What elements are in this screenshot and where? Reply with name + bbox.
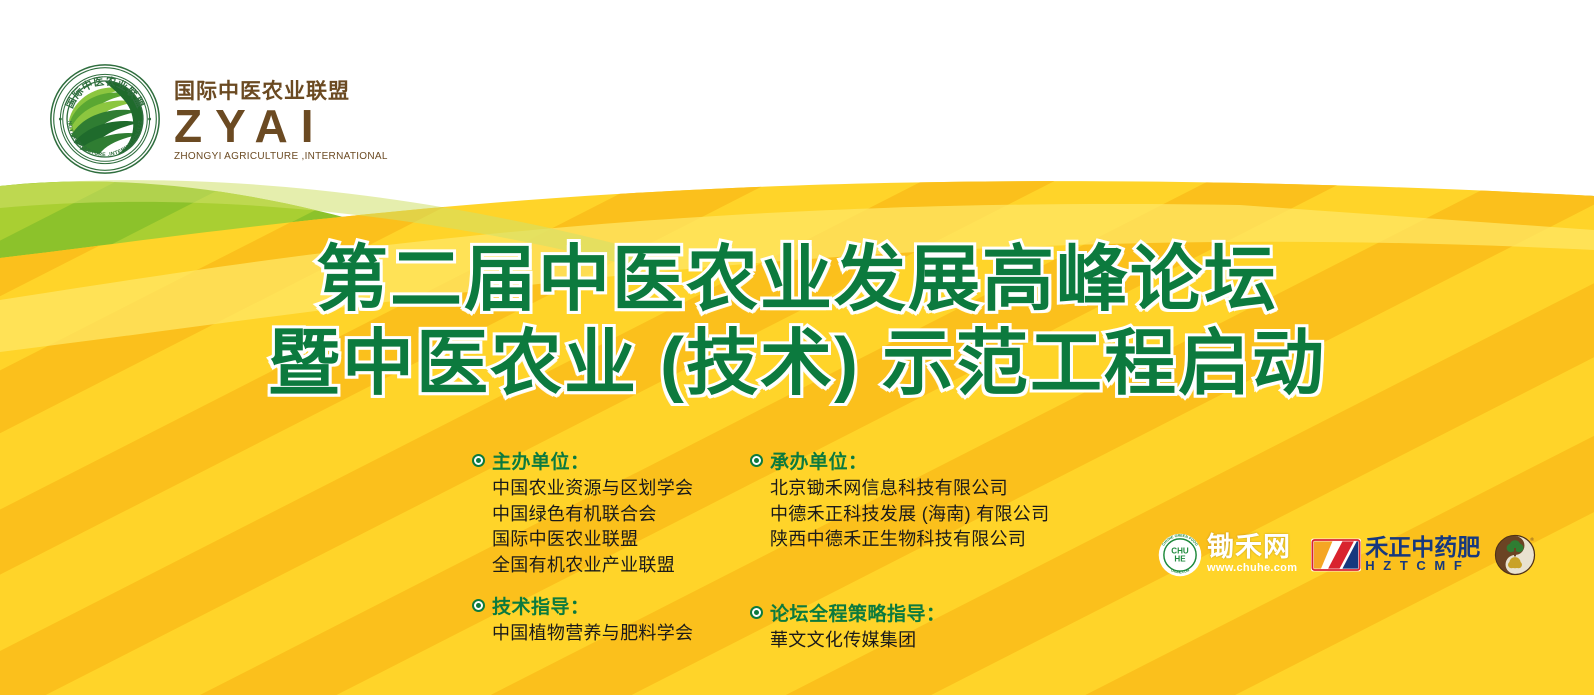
credit-heading: 主办单位： xyxy=(492,447,590,474)
credits-column-left: 主办单位： 中国农业资源与区划学会 中国绿色有机联合会 国际中医农业联盟 全国有… xyxy=(472,447,702,657)
chuhe-name: 锄禾网 xyxy=(1207,534,1291,561)
credit-item: 中国植物营养与肥料学会 xyxy=(472,621,702,647)
chuhe-wordmark: 锄禾网 www.chuhe.com xyxy=(1207,534,1297,575)
logo-acronym: ZYAI xyxy=(174,103,327,150)
credit-group-hosts: 承办单位： 北京锄禾网信息科技有限公司 中德禾正科技发展 (海南) 有限公司 陕… xyxy=(750,447,1050,553)
chuhe-seal-icon: CHUHE GREEN FOOD CHUHE.COM CHU HE xyxy=(1158,533,1202,577)
credit-heading: 承办单位： xyxy=(770,447,868,474)
credit-group-organizers: 主办单位： 中国农业资源与区划学会 中国绿色有机联合会 国际中医农业联盟 全国有… xyxy=(472,447,702,578)
zyai-logo: 国际中医农业联盟 ZHONGYI AGRICULTURE .INTERNATIO… xyxy=(48,62,388,176)
svg-text:®: ® xyxy=(1531,536,1535,543)
credit-item: 中德禾正科技发展 (海南) 有限公司 xyxy=(750,502,1050,528)
logo-english-name: ZHONGYI AGRICULTURE ,INTERNATIONAL xyxy=(174,151,388,162)
credit-group-strategy-guidance: 论坛全程策略指导： 華文文化传媒集团 xyxy=(750,599,1050,654)
credit-heading-row: 承办单位： xyxy=(750,447,1050,474)
zyai-logo-text: 国际中医农业联盟 ZYAI ZHONGYI AGRICULTURE ,INTER… xyxy=(174,76,388,162)
credit-item: 陕西中德禾正生物科技有限公司 xyxy=(750,527,1050,553)
conference-banner: 国际中医农业联盟 ZHONGYI AGRICULTURE .INTERNATIO… xyxy=(0,0,1594,695)
credits-section: 主办单位： 中国农业资源与区划学会 中国绿色有机联合会 国际中医农业联盟 全国有… xyxy=(472,447,1050,657)
hzt-mark-icon xyxy=(1311,538,1361,572)
credit-item: 全国有机农业产业联盟 xyxy=(472,553,702,579)
hzt-wordmark: 禾正中药肥 H Z T C M F xyxy=(1365,536,1480,574)
credit-item: 中国绿色有机联合会 xyxy=(472,502,702,528)
svg-text:HE: HE xyxy=(1174,555,1186,564)
credit-heading: 技术指导： xyxy=(492,592,590,619)
credit-item: 国际中医农业联盟 xyxy=(472,527,702,553)
bullet-icon xyxy=(750,454,763,467)
credit-heading-row: 主办单位： xyxy=(472,447,702,474)
credits-column-right: 承办单位： 北京锄禾网信息科技有限公司 中德禾正科技发展 (海南) 有限公司 陕… xyxy=(750,447,1050,657)
bullet-icon xyxy=(472,454,485,467)
tree-root-emblem-icon: ® xyxy=(1494,534,1536,576)
sponsor-logos: CHUHE GREEN FOOD CHUHE.COM CHU HE 锄禾网 ww… xyxy=(1158,533,1536,577)
credit-item: 華文文化传媒集团 xyxy=(750,628,1050,654)
credit-item: 中国农业资源与区划学会 xyxy=(472,476,702,502)
hzt-name: 禾正中药肥 xyxy=(1365,536,1480,559)
sponsor-chuhe: CHUHE GREEN FOOD CHUHE.COM CHU HE 锄禾网 ww… xyxy=(1158,533,1297,577)
hzt-acronym: H Z T C M F xyxy=(1365,559,1464,574)
credit-heading-row: 论坛全程策略指导： xyxy=(750,599,1050,626)
chuhe-website: www.chuhe.com xyxy=(1207,562,1297,575)
credit-heading: 论坛全程策略指导： xyxy=(770,599,946,626)
bullet-icon xyxy=(472,599,485,612)
sponsor-hezheng: 禾正中药肥 H Z T C M F xyxy=(1311,536,1480,574)
zyai-emblem-icon: 国际中医农业联盟 ZHONGYI AGRICULTURE .INTERNATIO… xyxy=(48,62,162,176)
bullet-icon xyxy=(750,606,763,619)
credit-heading-row: 技术指导： xyxy=(472,592,702,619)
credit-item: 北京锄禾网信息科技有限公司 xyxy=(750,476,1050,502)
credit-group-technical-guidance: 技术指导： 中国植物营养与肥料学会 xyxy=(472,592,702,647)
